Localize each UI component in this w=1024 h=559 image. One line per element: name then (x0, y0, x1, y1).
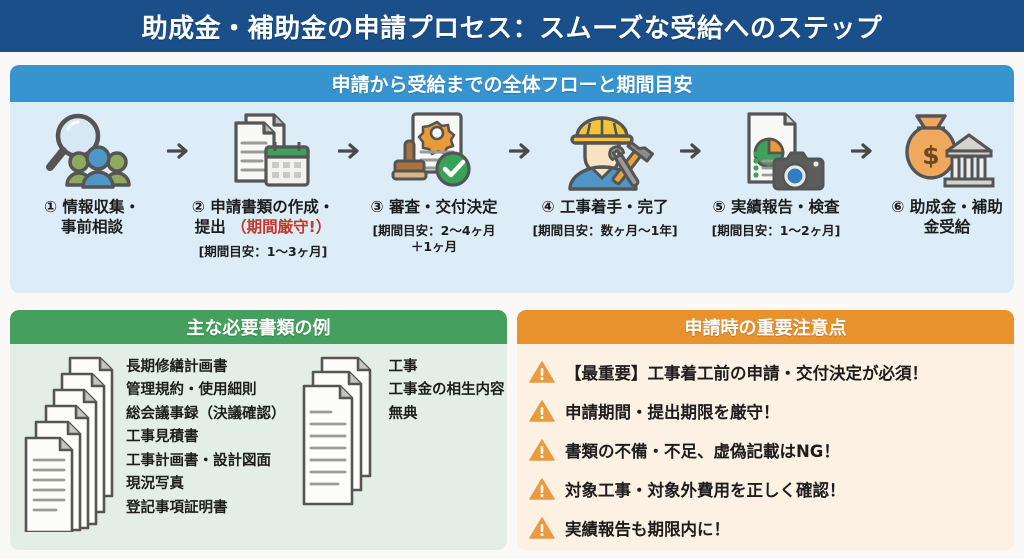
notes-panel-header: 申請時の重要注意点 (517, 310, 1014, 344)
notes-panel-header-label: 申請時の重要注意点 (685, 314, 847, 340)
flow-step-4-label: ④ 工事着手・完了 (541, 197, 668, 217)
warning-triangle-icon (529, 360, 555, 384)
documents-calendar-icon (189, 108, 337, 194)
flow-arrow-4 (679, 108, 702, 194)
infographic-page: 助成金・補助金の申請プロセス：スムーズな受給へのステップ 申請から受給までの全体… (0, 0, 1024, 559)
notes-panel-body: 【最重要】工事着工前の申請・交付決定が必須！ 申請期間・提出期限を厳守！ 書類の… (517, 344, 1014, 547)
note-item-2-label: 申請期間・提出期限を厳守！ (565, 399, 780, 423)
flow-arrow-5 (850, 108, 873, 194)
report-camera-icon (702, 108, 850, 194)
document-item: 工事金の相生内容 (389, 379, 505, 402)
note-item-3-label: 書類の不備・不足、虚偽記載はNG！ (565, 438, 840, 462)
document-item: 管理規約・使用細則 (126, 379, 286, 402)
note-item-4: 対象工事・対象外費用を正しく確認！ (529, 469, 1004, 508)
worker-tools-icon (531, 108, 679, 194)
note-item-3: 書類の不備・不足、虚偽記載はNG！ (529, 430, 1004, 469)
warning-triangle-icon (529, 438, 555, 462)
warning-triangle-icon (529, 399, 555, 423)
moneybag-bank-icon: $ (873, 108, 1014, 194)
flow-step-3-label: ③ 審査・交付決定 (370, 197, 497, 217)
flow-step-2[interactable]: ② 申請書類の作成・ 提出 （期間厳守!） [期間目安：1〜3ヶ月] (189, 108, 337, 260)
flow-step-5-label: ⑤ 実績報告・検査 (712, 197, 839, 217)
document-item: 工事計画書・設計図面 (126, 450, 286, 473)
page-title: 助成金・補助金の申請プロセス：スムーズな受給へのステップ (142, 8, 883, 45)
flow-step-1[interactable]: ① 情報収集・ 事前相談 (18, 108, 166, 244)
note-item-5: 実績報告も期限内に！ (529, 508, 1004, 547)
flow-step-5-duration: [期間目安：1〜2ヶ月] (712, 223, 841, 239)
document-item: 工事 (389, 356, 505, 379)
note-item-1-label: 【最重要】工事着工前の申請・交付決定が必須！ (565, 360, 928, 384)
notes-panel: 申請時の重要注意点 【最重要】工事着工前の申請・交付決定が必須！ 申請期間・提出… (517, 310, 1014, 550)
flow-step-3[interactable]: ③ 審査・交付決定 [期間目安：2〜4ヶ月 ＋1ヶ月 (360, 108, 508, 255)
stamp-certificate-check-icon (360, 108, 508, 194)
magnifier-people-icon (18, 108, 166, 194)
flow-step-6-label: ⑥ 助成金・補助 金受給 (891, 197, 1003, 238)
document-item: 工事見積書 (126, 426, 286, 449)
flow-step-3-duration: [期間目安：2〜4ヶ月 ＋1ヶ月 (372, 223, 495, 255)
note-item-4-label: 対象工事・対象外費用を正しく確認！ (565, 477, 846, 501)
document-item: 登記事項証明書 (126, 497, 286, 520)
documents-list-1: 長期修繕計画書 管理規約・使用細則 総会議事録（決議確認） 工事見積書 工事計画… (126, 356, 286, 520)
flow-panel-header: 申請から受給までの全体フローと期間目安 (10, 65, 1014, 102)
flow-step-5[interactable]: ⑤ 実績報告・検査 [期間目安：1〜2ヶ月] (702, 108, 850, 239)
documents-column-1: 長期修繕計画書 管理規約・使用細則 総会議事録（決議確認） 工事見積書 工事計画… (22, 354, 286, 532)
flow-panel: 申請から受給までの全体フローと期間目安 (10, 65, 1014, 293)
page-title-bar: 助成金・補助金の申請プロセス：スムーズな受給へのステップ (0, 0, 1024, 52)
flow-step-6[interactable]: $ ⑥ 助成金・補助 金受給 (873, 108, 1014, 244)
flow-step-2-label-warning: （期間厳守!） (231, 218, 331, 236)
documents-panel-header: 主な必要書類の例 (10, 310, 507, 344)
flow-step-4[interactable]: ④ 工事着手・完了 [期間目安：数ヶ月〜1年] (531, 108, 679, 239)
document-stack-icon-2 (300, 354, 382, 506)
flow-steps-row: ① 情報収集・ 事前相談 (10, 102, 1014, 293)
flow-step-4-duration: [期間目安：数ヶ月〜1年] (532, 223, 677, 239)
flow-arrow-3 (508, 108, 531, 194)
documents-panel-body: 長期修繕計画書 管理規約・使用細則 総会議事録（決議確認） 工事見積書 工事計画… (10, 344, 507, 532)
document-item: 長期修繕計画書 (126, 356, 286, 379)
warning-triangle-icon (529, 516, 555, 540)
flow-arrow-1 (166, 108, 189, 194)
document-item: 現況写真 (126, 473, 286, 496)
documents-panel-header-label: 主な必要書類の例 (187, 314, 331, 340)
flow-arrow-2 (337, 108, 360, 194)
note-item-2: 申請期間・提出期限を厳守！ (529, 391, 1004, 430)
documents-column-2: 工事 工事金の相生内容 無典 (300, 354, 505, 532)
flow-step-1-label: ① 情報収集・ 事前相談 (44, 197, 140, 238)
documents-list-2: 工事 工事金の相生内容 無典 (389, 356, 505, 426)
document-stack-icon-1 (22, 354, 118, 532)
svg-text:$: $ (922, 141, 939, 170)
documents-panel: 主な必要書類の例 (10, 310, 507, 550)
document-item: 総会議事録（決議確認） (126, 403, 286, 426)
flow-step-2-duration: [期間目安：1〜3ヶ月] (199, 244, 328, 260)
flow-step-2-label: ② 申請書類の作成・ 提出 （期間厳守!） (192, 197, 335, 238)
note-item-1: 【最重要】工事着工前の申請・交付決定が必須！ (529, 352, 1004, 391)
flow-panel-header-label: 申請から受給までの全体フローと期間目安 (331, 70, 692, 97)
document-item: 無典 (389, 403, 505, 426)
warning-triangle-icon (529, 477, 555, 501)
note-item-5-label: 実績報告も期限内に！ (565, 516, 730, 540)
